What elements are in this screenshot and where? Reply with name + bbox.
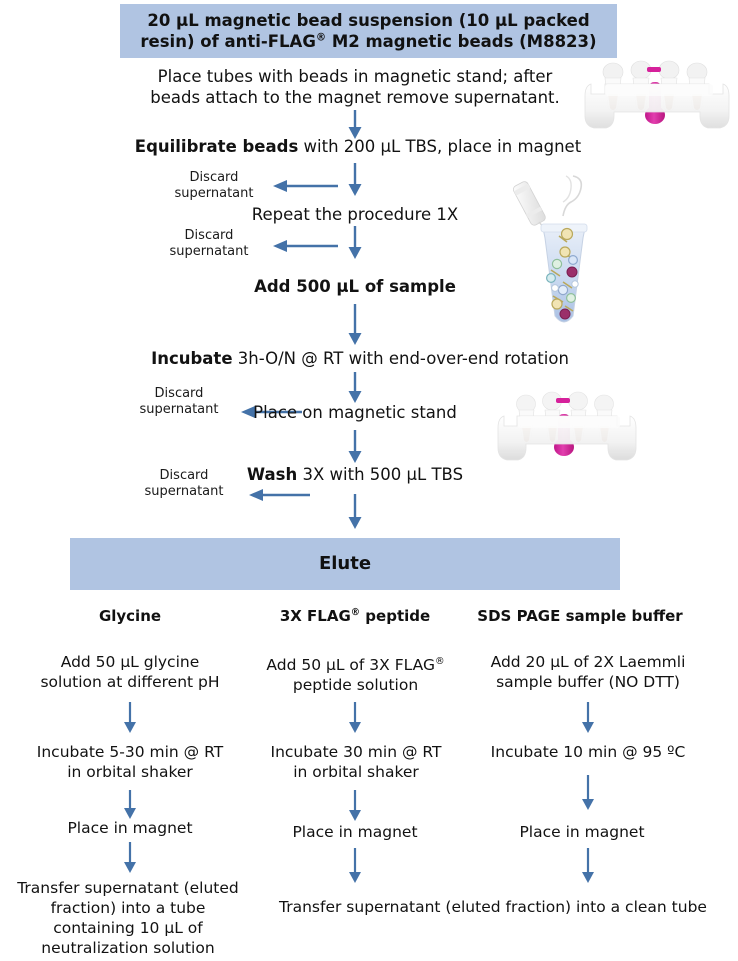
discard-line2-b: supernatant <box>170 244 249 259</box>
col2-arrow-1 <box>345 702 365 734</box>
col3-add-line1: Add 20 µL of 2X Laemmli <box>491 653 686 671</box>
col3-step-add: Add 20 µL of 2X Laemmli sample buffer (N… <box>472 652 704 692</box>
column-header-flag-pre: 3X FLAG <box>280 607 351 625</box>
step-equilibrate: Equilibrate beads with 200 µL TBS, place… <box>88 136 628 157</box>
col1-inc-line2: in orbital shaker <box>67 763 193 781</box>
step-repeat-text: Repeat the procedure 1X <box>252 205 458 224</box>
step-place-on-magnetic-stand: Place on magnetic stand <box>215 402 495 423</box>
col3-add-line2: sample buffer (NO DTT) <box>496 673 680 691</box>
step-place-tubes-line1: Place tubes with beads in magnetic stand… <box>158 67 553 86</box>
shared-step-transfer: Transfer supernatant (eluted fraction) i… <box>258 897 728 917</box>
arrow-left-discard-1 <box>272 178 338 194</box>
col3-arrow-2 <box>578 775 598 811</box>
discard-line2-a: supernatant <box>175 186 254 201</box>
step-place-tubes: Place tubes with beads in magnetic stand… <box>120 66 590 109</box>
arrow-down-to-add-sample <box>344 226 366 260</box>
header-line-1: 20 µL magnetic bead suspension (10 µL pa… <box>147 11 589 30</box>
col1-add-line2: solution at different pH <box>40 673 219 691</box>
col3-step-magnet: Place in magnet <box>492 822 672 842</box>
column-header-glycine: Glycine <box>55 607 205 625</box>
col2-add-line1-pre: Add 50 µL of 3X FLAG <box>266 656 435 674</box>
discard-line1-a: Discard <box>190 170 239 185</box>
column-header-flag-post: peptide <box>360 607 430 625</box>
note-discard-supernatant-4: Discard supernatant <box>130 468 238 500</box>
col3-step-incubate: Incubate 10 min @ 95 ºC <box>472 742 704 762</box>
col2-arrow-3 <box>345 848 365 884</box>
arrow-left-discard-4 <box>248 487 310 503</box>
elute-title: Elute <box>319 552 371 575</box>
step-incubate-bold: Incubate <box>151 349 232 368</box>
arrow-down-to-incubate <box>344 304 366 346</box>
header-banner-text: 20 µL magnetic bead suspension (10 µL pa… <box>140 10 596 52</box>
step-wash-bold: Wash <box>247 465 297 484</box>
arrow-down-to-place-stand <box>344 372 366 404</box>
elute-banner: Elute <box>70 538 620 590</box>
col1-step-incubate: Incubate 5-30 min @ RT in orbital shaker <box>15 742 245 782</box>
col1-step-magnet: Place in magnet <box>40 818 220 838</box>
col1-transfer-line2: fraction) into a tube <box>51 899 206 917</box>
magnetic-stand-photo-top <box>583 58 735 130</box>
col2-arrow-2 <box>345 790 365 822</box>
step-repeat-procedure: Repeat the procedure 1X <box>145 204 565 225</box>
col2-inc-line2: in orbital shaker <box>293 763 419 781</box>
step-place-stand-text: Place on magnetic stand <box>253 403 457 422</box>
step-place-tubes-line2: beads attach to the magnet remove supern… <box>150 88 560 107</box>
col2-add-line2: peptide solution <box>293 676 418 694</box>
magnetic-stand-photo-middle <box>494 388 638 468</box>
col1-transfer-line3: containing 10 µL of <box>53 919 202 937</box>
registered-mark-icon-3: ® <box>435 656 445 667</box>
step-add-sample: Add 500 µL of sample <box>155 276 555 297</box>
note-discard-supernatant-2: Discard supernatant <box>155 228 263 260</box>
col2-step-magnet: Place in magnet <box>265 822 445 842</box>
col3-magnet-text: Place in magnet <box>519 823 644 841</box>
col1-transfer-line1: Transfer supernatant (eluted <box>17 879 239 897</box>
col3-arrow-3 <box>578 848 598 884</box>
registered-mark-icon: ® <box>316 33 326 44</box>
col1-step-transfer: Transfer supernatant (eluted fraction) i… <box>3 878 253 959</box>
col1-arrow-2 <box>120 790 140 820</box>
step-incubate-rest: 3h-O/N @ RT with end-over-end rotation <box>233 349 569 368</box>
step-incubate: Incubate 3h-O/N @ RT with end-over-end r… <box>75 348 645 369</box>
step-wash: Wash 3X with 500 µL TBS <box>195 464 515 485</box>
col2-step-incubate: Incubate 30 min @ RT in orbital shaker <box>250 742 462 782</box>
step-wash-rest: 3X with 500 µL TBS <box>297 465 463 484</box>
col1-transfer-line4: neutralization solution <box>41 939 214 957</box>
col2-step-add: Add 50 µL of 3X FLAG® peptide solution <box>248 655 463 695</box>
header-line-2-post: M2 magnetic beads (M8823) <box>326 32 596 51</box>
col1-arrow-1 <box>120 702 140 734</box>
col1-add-line1: Add 50 µL glycine <box>61 653 200 671</box>
header-line-2-pre: resin) of anti-FLAG <box>140 32 315 51</box>
discard-line2-d: supernatant <box>145 484 224 499</box>
step-add-sample-text: Add 500 µL of sample <box>254 277 456 296</box>
col3-inc-text: Incubate 10 min @ 95 ºC <box>491 743 686 761</box>
step-equilibrate-bold: Equilibrate beads <box>135 137 298 156</box>
discard-line1-c: Discard <box>155 386 204 401</box>
column-header-sds-page: SDS PAGE sample buffer <box>465 607 695 625</box>
col1-step-add: Add 50 µL glycine solution at different … <box>20 652 240 692</box>
col1-arrow-3 <box>120 842 140 874</box>
column-header-glycine-label: Glycine <box>99 607 161 625</box>
column-header-sds-label: SDS PAGE sample buffer <box>477 607 682 625</box>
column-header-flag-peptide: 3X FLAG® peptide <box>265 607 445 625</box>
note-discard-supernatant-1: Discard supernatant <box>160 170 268 202</box>
col2-magnet-text: Place in magnet <box>292 823 417 841</box>
discard-line1-d: Discard <box>160 468 209 483</box>
arrow-down-to-repeat <box>344 163 366 197</box>
microcentrifuge-tube-photo <box>505 172 615 330</box>
arrow-left-discard-2 <box>272 238 338 254</box>
header-banner: 20 µL magnetic bead suspension (10 µL pa… <box>120 4 617 58</box>
col1-inc-line1: Incubate 5-30 min @ RT <box>37 743 223 761</box>
registered-mark-icon-2: ® <box>351 607 360 618</box>
discard-line1-b: Discard <box>185 228 234 243</box>
arrow-down-to-wash <box>344 430 366 464</box>
discard-line2-c: supernatant <box>140 402 219 417</box>
col2-inc-line1: Incubate 30 min @ RT <box>271 743 442 761</box>
col1-magnet-text: Place in magnet <box>67 819 192 837</box>
col3-arrow-1 <box>578 702 598 734</box>
arrow-down-to-elute <box>344 494 366 530</box>
step-equilibrate-rest: with 200 µL TBS, place in magnet <box>298 137 581 156</box>
shared-transfer-text: Transfer supernatant (eluted fraction) i… <box>279 898 707 916</box>
